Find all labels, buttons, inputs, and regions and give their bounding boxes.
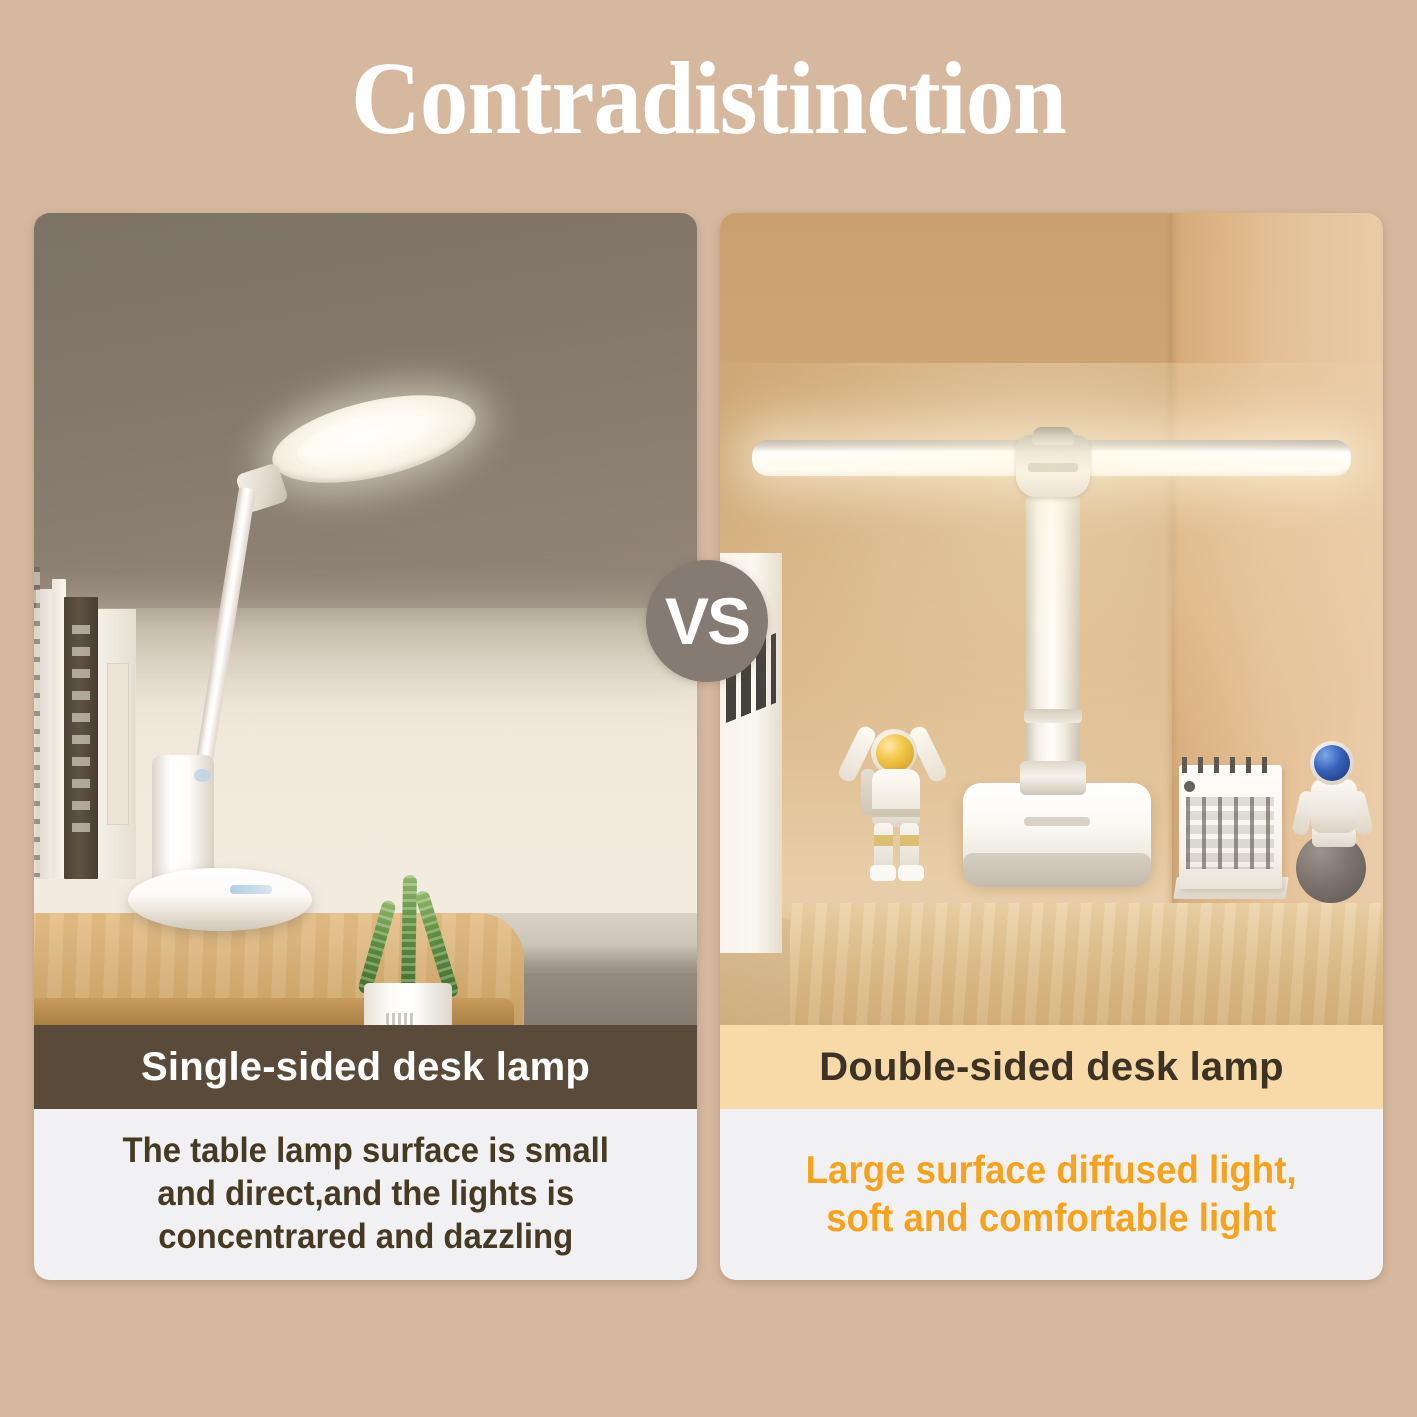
astronaut-gold-body	[872, 769, 920, 827]
book-cover-panel	[107, 663, 129, 825]
caption-card-left: The table lamp surface is small and dire…	[34, 1109, 697, 1280]
lamp-hinge-cap	[1032, 427, 1074, 445]
label-double-sided: Double-sided desk lamp	[819, 1045, 1284, 1090]
book-edge-pages	[34, 567, 40, 877]
caption-line: and direct,and the lights is	[122, 1173, 608, 1216]
label-bar-left: Single-sided desk lamp	[34, 1025, 697, 1109]
desk-calendar-rings	[1182, 757, 1278, 773]
comparison-card-right: Double-sided desk lamp Large surface dif…	[720, 213, 1383, 1280]
label-bar-right: Double-sided desk lamp	[720, 1025, 1383, 1109]
lamp-base-indicator	[230, 885, 272, 894]
caption-line: The table lamp surface is small	[122, 1130, 608, 1173]
lamp-round-base	[128, 868, 312, 931]
caption-line: soft and comfortable light	[806, 1195, 1297, 1243]
lamp-hinge-slot	[1028, 463, 1078, 472]
vs-badge: VS	[646, 560, 768, 682]
single-sided-desk-lamp-photo	[34, 213, 697, 1025]
caption-card-right: Large surface diffused light, soft and c…	[720, 1109, 1383, 1280]
astronaut-gold-knee-right	[900, 835, 919, 846]
lamp-square-base-skirt	[963, 853, 1151, 887]
caption-line: Large surface diffused light,	[806, 1147, 1297, 1195]
right-desk-surface	[720, 903, 1383, 1025]
caption-text-right: Large surface diffused light, soft and c…	[806, 1147, 1297, 1242]
lamp-column	[1026, 495, 1080, 787]
caption-line: concentrared and dazzling	[122, 1216, 608, 1259]
lamp-column-joint-upper	[1024, 709, 1082, 723]
lamp-power-button	[194, 769, 210, 782]
astronaut-gold-knee-left	[874, 835, 893, 846]
succulent-leaf-2	[401, 875, 417, 997]
astronaut-gold-visor	[876, 734, 914, 772]
astronaut-gold-boot-right	[898, 865, 924, 881]
vs-badge-label: VS	[665, 583, 749, 659]
double-sided-desk-lamp-photo	[720, 213, 1383, 1025]
desk-calendar-grid	[1186, 797, 1274, 869]
label-single-sided: Single-sided desk lamp	[141, 1045, 590, 1090]
comparison-card-left: Single-sided desk lamp The table lamp su…	[34, 213, 697, 1280]
desk-calendar-mark	[1184, 781, 1195, 792]
book-spine-text	[72, 625, 90, 845]
astronaut-blue-visor	[1314, 745, 1350, 781]
page-title: Contradistinction	[50, 44, 1368, 154]
caption-text-left: The table lamp surface is small and dire…	[122, 1130, 608, 1258]
plant-pot-text	[386, 1013, 416, 1025]
lamp-column-joint-lower	[1020, 761, 1086, 795]
lamp-base-slot	[1024, 817, 1090, 826]
astronaut-gold-boot-left	[870, 865, 896, 881]
astronaut-blue-body	[1311, 779, 1357, 833]
astronaut-gold-belt	[872, 809, 920, 817]
